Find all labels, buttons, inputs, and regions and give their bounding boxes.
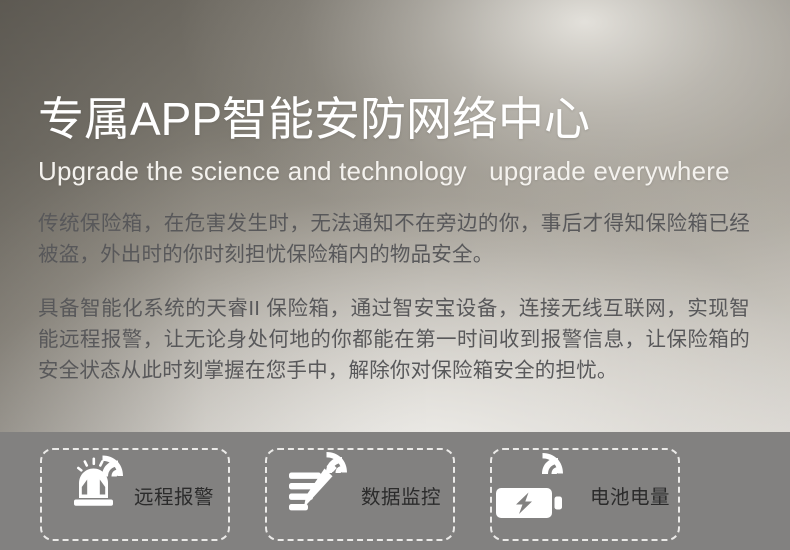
feature-item-data-monitor[interactable]: 数据监控 [265, 448, 455, 541]
promo-banner: 专属APP智能安防网络中心 Upgrade the science and te… [0, 0, 790, 550]
header: 专属APP智能安防网络中心 Upgrade the science and te… [38, 92, 752, 187]
feature-label: 远程报警 [134, 480, 214, 509]
body-copy: 传统保险箱，在危害发生时，无法通知不在旁边的你，事后才得知保险箱已经被盗，外出时… [38, 208, 750, 386]
paragraph-2: 具备智能化系统的天睿II 保险箱，通过智安宝设备，连接无线互联网，实现智能远程报… [38, 293, 750, 386]
paragraph-1: 传统保险箱，在危害发生时，无法通知不在旁边的你，事后才得知保险箱已经被盗，外出时… [38, 208, 750, 270]
siren-signal-icon [54, 442, 132, 520]
data-pencil-signal-icon [279, 442, 357, 520]
page-title: 专属APP智能安防网络中心 [38, 92, 752, 146]
battery-bolt-signal-icon [494, 446, 580, 528]
feature-item-battery-level[interactable]: 电池电量 [490, 448, 680, 541]
feature-label: 电池电量 [590, 480, 670, 509]
feature-item-remote-alarm[interactable]: 远程报警 [40, 448, 230, 541]
feature-label: 数据监控 [361, 480, 441, 509]
feature-list: 远程报警 数据监控 [40, 448, 750, 541]
page-subtitle: Upgrade the science and technology upgra… [38, 155, 752, 187]
